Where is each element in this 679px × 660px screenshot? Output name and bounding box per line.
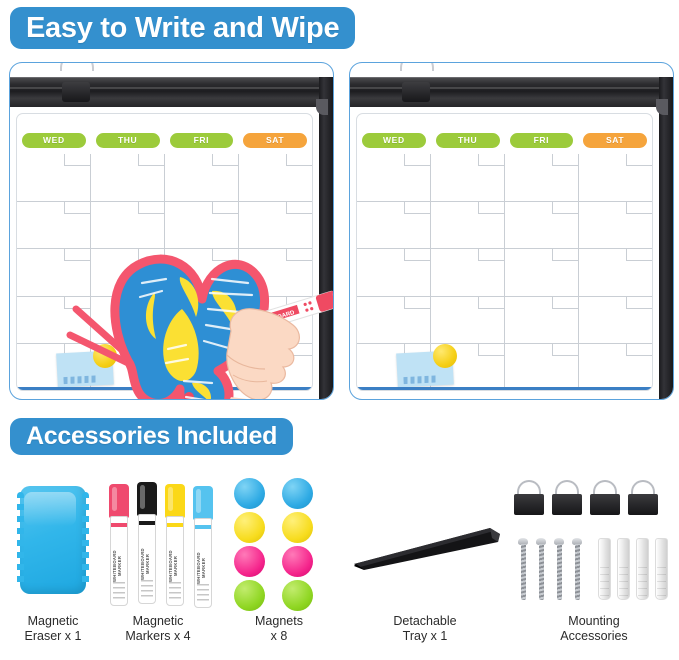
hanger-plate [628,494,658,515]
day-pill-thu: THU [436,133,500,148]
tray-icon [352,526,502,572]
date-number-box [138,154,164,166]
date-number-box [64,154,90,166]
section-banner-easy-to-write: Easy to Write and Wipe [10,7,355,49]
date-number-box [626,154,652,166]
day-pill-fri: FRI [510,133,574,148]
marker-barrel: WHITEBOARD MARKER [166,516,184,606]
hanger-plate [514,494,544,515]
calendar-cell [504,249,578,295]
marker-band [139,521,155,525]
calendar-cell [430,154,504,201]
accessory-detachable-tray [352,526,502,572]
hanger-ring-icon [60,62,94,71]
accessory-magnetic-eraser [20,486,86,594]
screw-shaft [539,544,544,600]
date-number-box [212,154,238,166]
date-number-box [626,297,652,309]
caption-magnets: Magnets x 8 [199,614,359,644]
magnet-green [234,580,265,611]
calendar-row [17,154,312,201]
d-ring-hanger-icon [628,480,658,520]
calendar-row [17,201,312,248]
d-ring-hanger-icon [552,480,582,520]
calendar-cell [357,202,430,248]
marker-grip [141,580,153,600]
screw-icon [536,538,546,600]
date-number-box [552,154,578,166]
calendar-cell [90,154,164,201]
calendar-cell [90,297,164,343]
calendar-cell [578,202,652,248]
date-number-box [478,154,504,166]
date-number-box [552,344,578,356]
magnet-blue [282,478,313,509]
hanger-plate [552,494,582,515]
board-top-rail [350,77,673,107]
calendar-cell [164,202,238,248]
date-number-box [626,202,652,214]
day-pill-fri: FRI [170,133,234,148]
marker-barrel: WHITEBOARD MARKER [110,516,128,606]
anchor-body [598,538,611,600]
anchor-body [636,538,649,600]
accessory-magnetic-markers: WHITEBOARD MARKER WHITEBOARD MARKER WHIT… [108,482,214,607]
calendar-cell [504,297,578,343]
marker-icon-pink: WHITEBOARD MARKER [108,484,130,606]
anchor-body [617,538,630,600]
day-pill-sat: SAT [243,133,307,148]
date-number-box [552,249,578,261]
wall-anchor-icon [636,538,649,600]
day-pill-wed: WED [362,133,426,148]
magnet-on-board [433,344,457,368]
screw-shaft [575,544,580,600]
marker-cap [137,482,157,516]
eraser-edge-ripple [17,492,24,588]
calendar-cell [430,297,504,343]
calendar-day-header-row-right: WED THU FRI SAT [357,129,652,151]
screw-icon [554,538,564,600]
caption-line-2: Tray x 1 [345,629,505,644]
marker-grip [169,582,181,602]
caption-line-2: x 8 [199,629,359,644]
caption-line-1: Detachable [345,614,505,629]
day-pill-thu: THU [96,133,160,148]
marker-icon-black: WHITEBOARD MARKER [136,482,158,604]
section-banner-accessories-included: Accessories Included [10,418,293,455]
calendar-row [357,201,652,248]
date-number-box [286,154,312,166]
calendar-cell [238,154,312,201]
caption-line-1: Magnets [199,614,359,629]
hanger-ring-icon [400,62,434,71]
calendar-row [357,154,652,201]
whiteboard-write: WED THU FRI SAT [9,62,334,400]
caption-line-2: Accessories [514,629,674,644]
calendar-cell [504,344,578,390]
calendar-cell [17,202,90,248]
eraser-icon [20,486,86,594]
eraser-edge-ripple [82,492,89,588]
screw-shaft [521,544,526,600]
date-number-box [626,249,652,261]
magnet-yellow [234,512,265,543]
whiteboard-wipe: WED THU FRI SAT [349,62,674,400]
screw-shaft [557,544,562,600]
day-pill-wed: WED [22,133,86,148]
date-number-box [286,202,312,214]
sticky-note-scribble [403,375,437,384]
magnet-green [282,580,313,611]
date-number-box [64,249,90,261]
calendar-cell [578,154,652,201]
date-number-box [552,202,578,214]
calendar-row [357,296,652,343]
anchor-body [655,538,668,600]
calendar-cell [430,249,504,295]
date-number-box [478,249,504,261]
calendar-cell [578,249,652,295]
calendar-cell [578,297,652,343]
calendar-day-header-row-left: WED THU FRI SAT [17,129,312,151]
marker-band [167,523,183,527]
magnet-pink [234,546,265,577]
caption-line-1: Mounting [514,614,674,629]
date-number-box [138,297,164,309]
marker-cap [109,484,129,518]
magnet-on-board [93,344,117,368]
calendar-cell [90,249,164,295]
wall-anchor-icon [655,538,668,600]
product-infographic: Easy to Write and Wipe WED THU FRI SAT [0,0,679,660]
marker-barrel: WHITEBOARD MARKER [138,514,156,604]
d-ring-hanger-icon [514,480,544,520]
day-pill-sat: SAT [583,133,647,148]
hanger-plate [590,494,620,515]
caption-detachable-tray: Detachable Tray x 1 [345,614,505,644]
screw-icon [518,538,528,600]
date-number-box [404,202,430,214]
date-number-box [138,344,164,356]
calendar-cell [90,202,164,248]
accessory-magnets [234,478,324,613]
rail-clip [62,82,90,102]
wall-anchor-icon [598,538,611,600]
hand-with-marker: WHITEBOARD [225,259,334,400]
marker-grip [113,582,125,602]
calendar-cell [357,154,430,201]
date-number-box [404,249,430,261]
board-top-rail [10,77,333,107]
date-number-box [478,344,504,356]
date-number-box [64,297,90,309]
calendar-cell [504,154,578,201]
marker-icon-yellow: WHITEBOARD MARKER [164,484,186,606]
calendar-cell [238,202,312,248]
calendar-cell [164,154,238,201]
accessories-row: Magnetic Eraser x 1 WHITEBOARD MARKER WH… [0,468,679,660]
marker-barrel: WHITEBOARD MARKER [194,518,212,608]
date-number-box [404,154,430,166]
magnet-yellow [282,512,313,543]
rail-clip [402,82,430,102]
caption-mounting: Mounting Accessories [514,614,674,644]
date-number-box [478,202,504,214]
date-number-box [404,297,430,309]
date-number-box [212,202,238,214]
wall-anchor-icon [617,538,630,600]
calendar-grid-right: WED THU FRI SAT [356,113,653,391]
date-number-box [552,297,578,309]
accessory-mounting [514,480,674,610]
calendar-cell [17,297,90,343]
marker-icon-blue: WHITEBOARD MARKER [192,486,214,608]
calendar-cell [17,249,90,295]
sticky-note-scribble [63,375,97,384]
date-number-box [138,202,164,214]
screw-icon [572,538,582,600]
marker-band [195,525,211,529]
date-number-box [64,202,90,214]
magnet-pink [282,546,313,577]
marker-cap [193,486,213,520]
magnet-blue [234,478,265,509]
board-bottom-strip [357,387,652,390]
d-ring-hanger-icon [590,480,620,520]
calendar-row [357,248,652,295]
date-number-box [138,249,164,261]
calendar-cell [357,249,430,295]
calendar-cell [17,154,90,201]
date-number-box [478,297,504,309]
marker-cap [165,484,185,518]
calendar-cell [504,202,578,248]
calendar-cell [430,202,504,248]
board-right-frame [659,77,673,399]
marker-band [111,523,127,527]
calendar-cell [578,344,652,390]
marker-grip [197,584,209,604]
date-number-box [626,344,652,356]
calendar-cell [357,297,430,343]
